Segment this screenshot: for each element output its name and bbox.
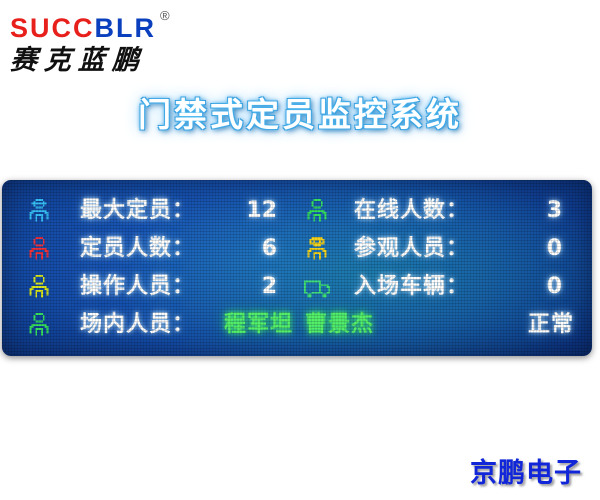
led-label-online-count: 在线人数：	[354, 194, 469, 228]
led-onsite-personnel-names: 程军坦曹景杰	[224, 308, 374, 342]
registered-trademark-icon: ®	[160, 8, 172, 23]
person-icon	[24, 235, 54, 265]
led-label-visitor-count: 参观人员：	[354, 232, 469, 266]
led-value-online-count: 3	[502, 194, 562, 228]
visitor-person-icon	[302, 235, 332, 265]
led-value-vehicle-count: 0	[502, 270, 562, 304]
logo-wordmark-part1: SUCC	[10, 13, 95, 43]
logo-chinese-name: 赛克蓝鹏	[9, 44, 241, 78]
led-label-onsite-personnel: 场内人员：	[80, 308, 195, 342]
person-with-hat-icon	[24, 197, 54, 227]
led-value-max-capacity: 12	[217, 194, 277, 228]
led-label-operator-count: 操作人员：	[80, 270, 195, 304]
person-icon	[24, 311, 54, 341]
person-icon	[24, 273, 54, 303]
led-label-registered-count: 定员人数：	[80, 232, 195, 266]
led-row-onsite-personnel: 场内人员： 程军坦曹景杰 正常	[2, 308, 592, 346]
led-value-operator-count: 2	[217, 270, 277, 304]
led-content-grid: 最大定员： 12	[2, 180, 592, 356]
led-label-max-capacity: 最大定员：	[80, 194, 195, 228]
led-value-registered-count: 6	[217, 232, 277, 266]
page-title: 门禁式定员监控系统	[0, 88, 600, 136]
logo-wordmark-part2: BLR	[95, 13, 157, 43]
led-label-vehicle-count: 入场车辆：	[354, 270, 469, 304]
led-row: 操作人员： 2 入场车辆：	[2, 270, 592, 308]
led-value-visitor-count: 0	[502, 232, 562, 266]
person-icon	[302, 197, 332, 227]
led-row: 定员人数： 6	[2, 232, 592, 270]
status-badge: 正常	[494, 308, 574, 342]
led-display-panel: 最大定员： 12	[2, 180, 592, 356]
onsite-name: 程军坦	[224, 312, 293, 337]
company-logo: SUCCBLR® 赛克蓝鹏	[10, 8, 240, 74]
led-row: 最大定员： 12	[2, 194, 592, 232]
footer-company-name: 京鹏电子	[470, 451, 582, 490]
truck-icon	[302, 273, 332, 303]
logo-wordmark: SUCCBLR®	[10, 8, 240, 43]
onsite-name: 曹景杰	[305, 312, 374, 337]
